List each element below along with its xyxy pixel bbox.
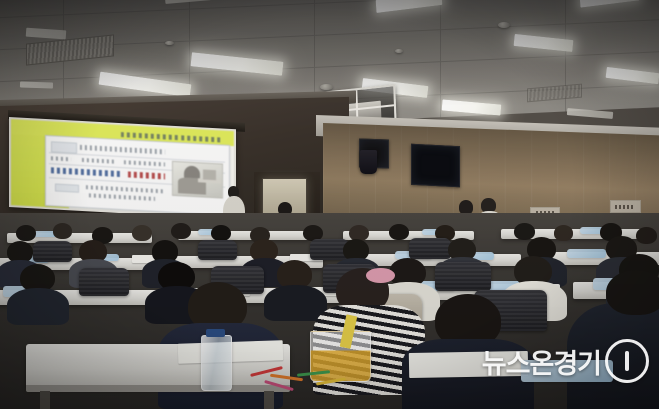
wall-monitor (411, 144, 460, 187)
slide-photo-object (204, 169, 217, 180)
attendee-chair (79, 268, 128, 296)
attendee-body (264, 285, 327, 322)
desk-leg (264, 391, 275, 409)
ceiling-lamp (20, 81, 53, 88)
attendee-head (514, 223, 535, 240)
attendee-head (636, 227, 657, 244)
bottle-cap (206, 329, 226, 337)
ceiling-lamp (567, 108, 614, 119)
slide-document (45, 134, 230, 215)
water-bottle (201, 335, 232, 390)
attendee-chair (33, 241, 73, 261)
attendee-head (389, 224, 409, 240)
slide-row-2 (82, 157, 115, 163)
smoke-detector-icon (320, 84, 333, 90)
desk-leg (40, 391, 51, 409)
slide-cell-label (51, 141, 77, 153)
attendee-head (554, 225, 574, 241)
attendee-head (132, 225, 152, 241)
worksheet-paper (408, 351, 527, 378)
slide-row-highlight (51, 167, 121, 176)
attendee-head (171, 223, 191, 239)
attendee-head (606, 270, 659, 315)
foreground-desk-edge (26, 385, 290, 392)
desk-fabric-kit (567, 249, 607, 258)
smoke-detector-icon (165, 41, 174, 45)
slide-photo (172, 160, 223, 198)
slide-content (11, 119, 234, 217)
wall-speaker (360, 150, 377, 175)
slide-cell-label (55, 183, 79, 193)
desk-fabric-kit (521, 360, 613, 382)
attendee-chair (409, 238, 452, 259)
attendee-chair (435, 262, 491, 291)
projection-screen (9, 117, 236, 219)
attendee-head (53, 223, 73, 239)
slide-row-highlight-accent (128, 171, 165, 178)
slide-row-1 (51, 156, 71, 161)
slide-row-3 (86, 185, 163, 193)
attendee-body (7, 288, 70, 325)
attendee-chair (198, 240, 238, 260)
slide-row-4 (90, 193, 156, 201)
attendee-hair-accessory (366, 268, 395, 283)
attendee-body (567, 303, 659, 409)
attendee-head (16, 225, 36, 241)
wall-sign-right (610, 200, 641, 213)
slide-row-2b (124, 159, 164, 165)
slide-row-header (81, 145, 165, 154)
attendee-head (211, 225, 231, 241)
lecture-hall-photo: 20 (0, 0, 659, 409)
